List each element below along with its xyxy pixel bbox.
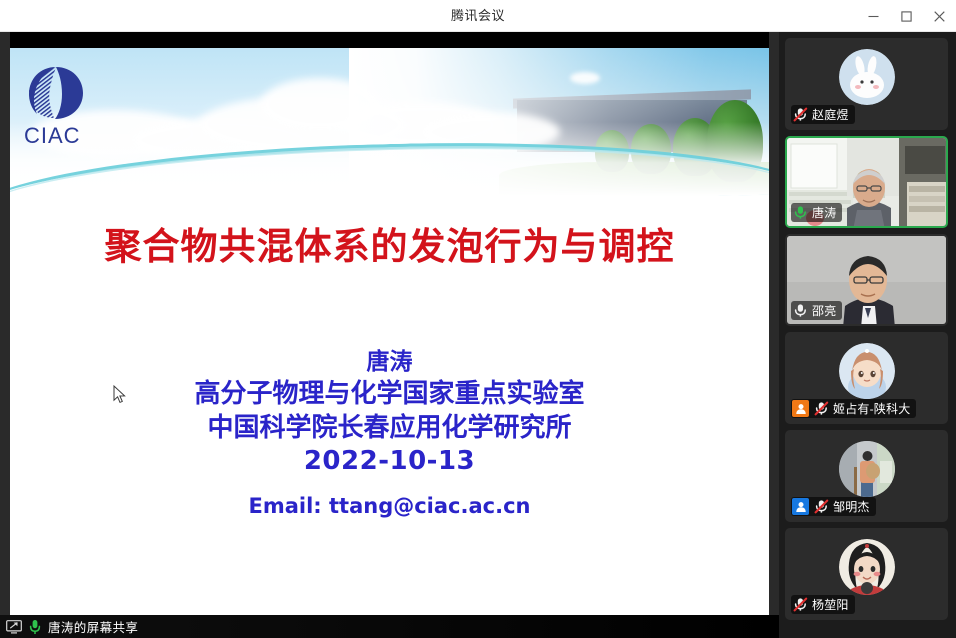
window-controls — [857, 0, 956, 32]
maximize-icon — [901, 11, 912, 22]
participant-name: 邹明杰 — [833, 498, 870, 515]
microphone-muted-icon — [813, 499, 829, 515]
title-bar: 腾讯会议 — [0, 0, 956, 32]
share-status-label: 唐涛的屏幕共享 — [48, 617, 138, 636]
rabbit-avatar-icon — [839, 49, 895, 105]
participant-name-badge: 赵庭煜 — [791, 105, 855, 124]
window-title: 腾讯会议 — [0, 0, 956, 32]
participant-name: 杨堃阳 — [812, 596, 849, 613]
participant-name-badge: 邵亮 — [791, 301, 842, 320]
presentation-slide: CIAC 聚合物共混体系的发泡行为与调控 唐涛 高分子物理与化学国家重点实验室 … — [10, 48, 769, 615]
avatar — [839, 539, 895, 595]
microphone-on-icon — [792, 205, 808, 221]
shared-content-letterbox: CIAC 聚合物共混体系的发泡行为与调控 唐涛 高分子物理与化学国家重点实验室 … — [10, 32, 769, 615]
close-button[interactable] — [923, 0, 956, 32]
person-badge-icon — [795, 501, 807, 513]
presenter-name: 唐涛 — [10, 348, 769, 378]
microphone-on-icon — [792, 303, 808, 319]
contact-email: Email: ttang@ciac.ac.cn — [10, 493, 769, 520]
participant-tile[interactable]: 姬占有-陕科大 — [785, 332, 948, 424]
institute-name: 中国科学院长春应用化学研究所 — [10, 412, 769, 446]
minimize-button[interactable] — [857, 0, 890, 32]
participant-name: 唐涛 — [812, 204, 836, 221]
participant-name: 赵庭煜 — [812, 106, 849, 123]
ciac-logo: CIAC — [24, 64, 96, 150]
participant-name: 姬占有-陕科大 — [833, 400, 910, 417]
participant-name-badge: 邹明杰 — [791, 497, 876, 516]
participant-name-badge: 唐涛 — [791, 203, 842, 222]
cloud-icon — [570, 72, 600, 84]
cohost-badge — [792, 498, 809, 515]
presentation-date: 2022-10-13 — [10, 445, 769, 479]
ciac-logo-mark — [26, 64, 86, 122]
screen-share-icon — [6, 620, 22, 634]
participant-tile[interactable]: 唐涛 — [785, 136, 948, 228]
tencent-meeting-window: 腾讯会议 — [0, 0, 956, 638]
microphone-muted-icon — [813, 401, 829, 417]
person-doorway-avatar-icon — [839, 441, 895, 497]
anime-girl-avatar-icon — [839, 343, 895, 399]
shared-screen-stage[interactable]: CIAC 聚合物共混体系的发泡行为与调控 唐涛 高分子物理与化学国家重点实验室 … — [0, 32, 779, 638]
participant-name-badge: 杨堃阳 — [791, 595, 855, 614]
slide-title: 聚合物共混体系的发泡行为与调控 — [10, 216, 769, 270]
close-icon — [934, 11, 945, 22]
maximize-button[interactable] — [890, 0, 923, 32]
character-avatar-icon — [839, 539, 895, 595]
slide-body: 唐涛 高分子物理与化学国家重点实验室 中国科学院长春应用化学研究所 2022-1… — [10, 348, 769, 521]
participant-tile[interactable]: 杨堃阳 — [785, 528, 948, 620]
avatar — [839, 343, 895, 399]
microphone-muted-icon — [792, 597, 808, 613]
participant-panel[interactable]: 赵庭煜 — [779, 32, 956, 638]
ciac-logo-text: CIAC — [24, 124, 96, 148]
participant-name: 邵亮 — [812, 302, 836, 319]
minimize-icon — [868, 11, 879, 22]
person-badge-icon — [795, 403, 807, 415]
avatar — [839, 441, 895, 497]
avatar — [839, 49, 895, 105]
ciac-emblem-icon — [26, 64, 86, 122]
microphone-muted-icon — [792, 107, 808, 123]
microphone-on-icon — [29, 619, 41, 635]
participant-name-badge: 姬占有-陕科大 — [791, 399, 916, 418]
slide-header-banner — [10, 48, 769, 196]
laboratory-name: 高分子物理与化学国家重点实验室 — [10, 378, 769, 412]
screen-share-status-bar: 唐涛的屏幕共享 — [0, 615, 779, 638]
participant-tile[interactable]: 邵亮 — [785, 234, 948, 326]
participant-tile[interactable]: 邹明杰 — [785, 430, 948, 522]
participant-tile[interactable]: 赵庭煜 — [785, 38, 948, 130]
host-badge — [792, 400, 809, 417]
